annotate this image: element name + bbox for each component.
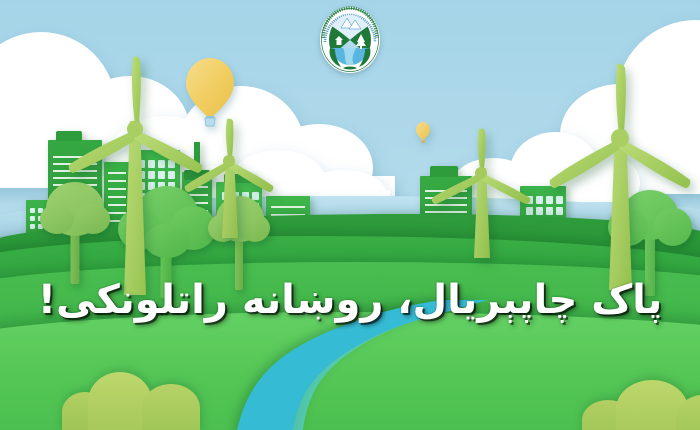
bush: [62, 368, 200, 430]
wind-turbine: [540, 60, 700, 290]
river: [230, 300, 490, 430]
hot-air-balloon-small: [415, 121, 431, 145]
wind-turbine: [182, 118, 278, 238]
nepa-emblem-logo: [313, 6, 387, 74]
hot-air-balloon: [182, 56, 238, 132]
poster-canvas: پاک چاپېریال، روښانه راتلونکی!: [0, 0, 700, 430]
wind-turbine: [428, 128, 538, 258]
bush: [582, 378, 700, 430]
